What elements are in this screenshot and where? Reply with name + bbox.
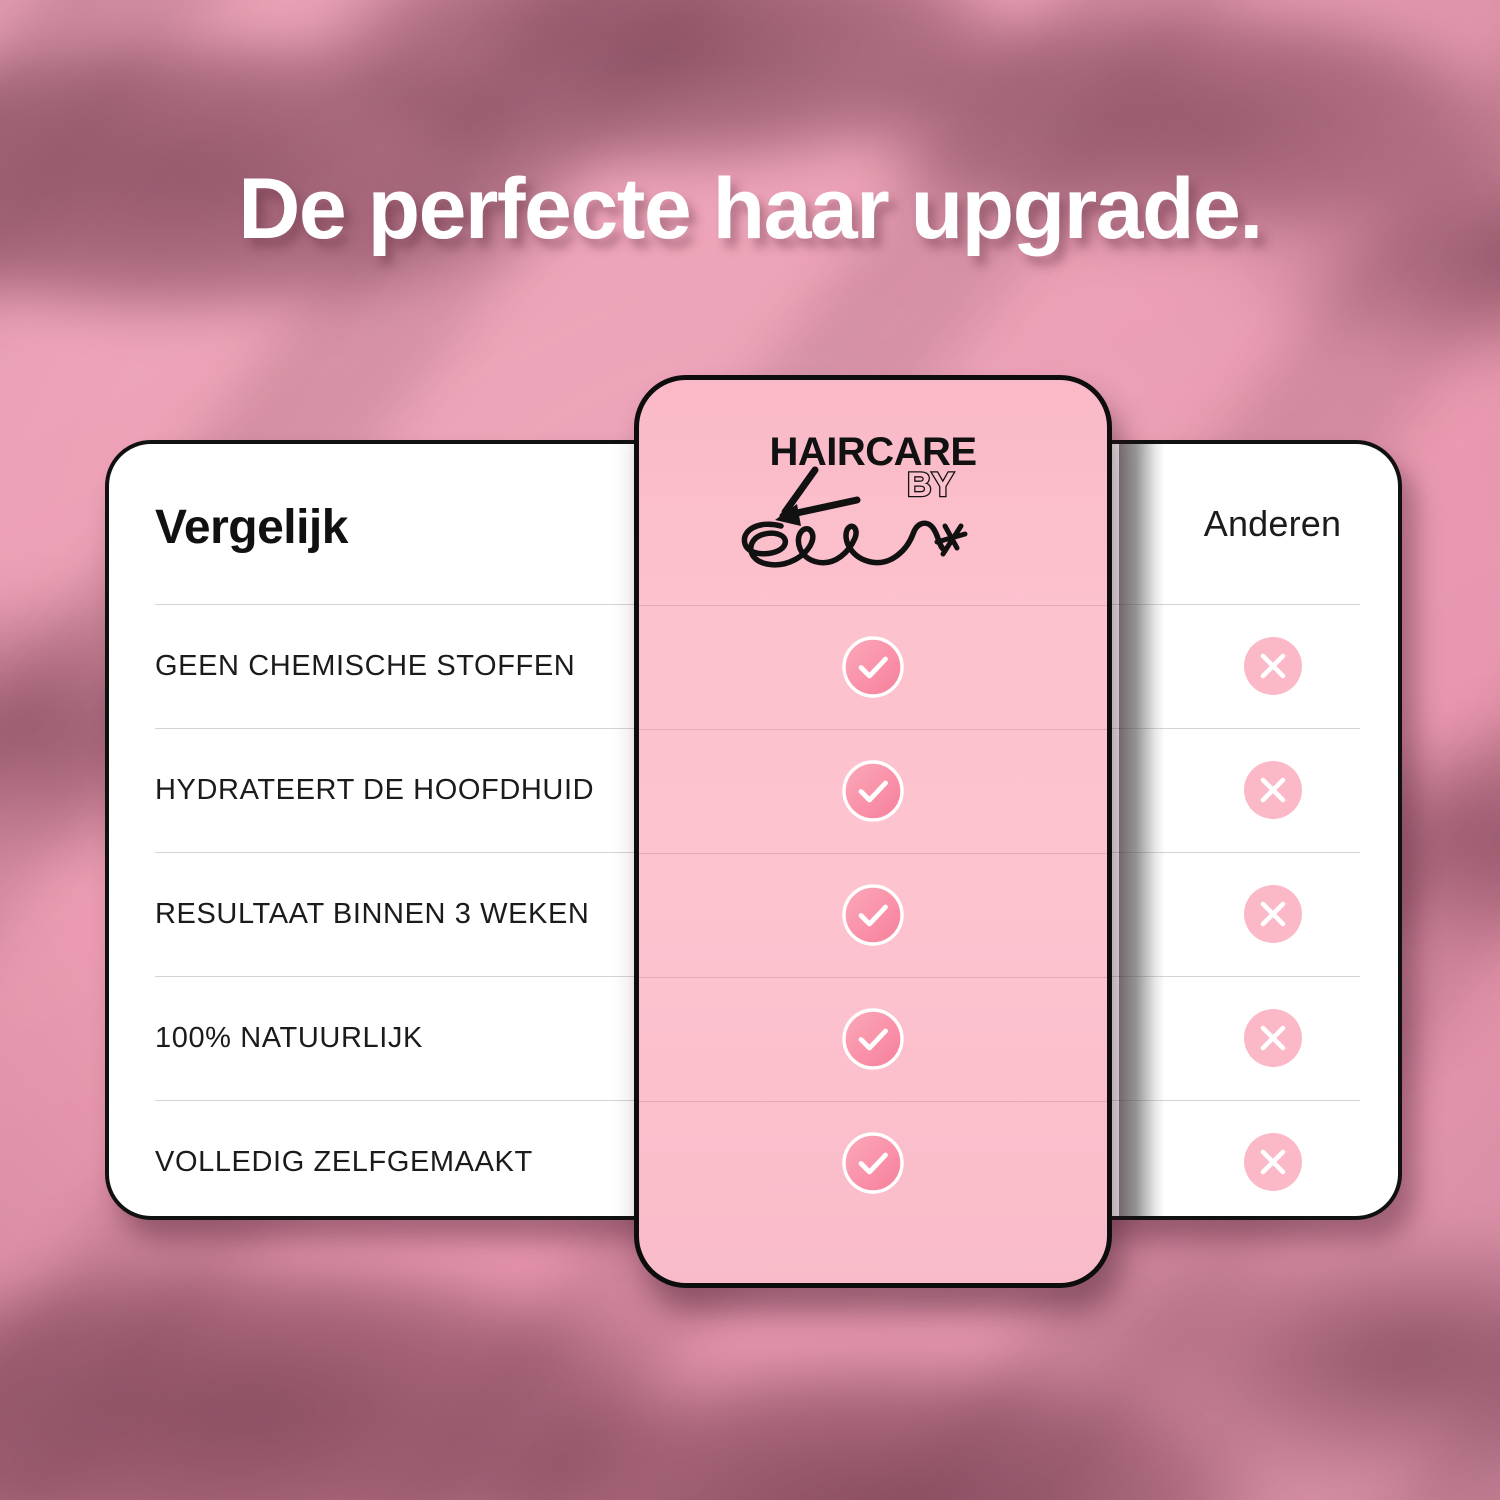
feature-label: RESULTAAT BINNEN 3 WEKEN [155,852,589,976]
check-circle-icon [842,760,904,822]
cross-circle-icon [1244,1009,1302,1067]
cross-circle-icon [1244,885,1302,943]
row-divider [639,1101,1107,1102]
others-cell [1139,1100,1402,1220]
cross-circle-icon [1244,761,1302,819]
poster-canvas: De perfecte haar upgrade. Vergelijk Ande… [0,0,1500,1500]
brand-cell [639,853,1107,977]
cross-circle-icon [1244,1133,1302,1191]
others-cell [1139,728,1402,852]
others-column-header: Anderen [1139,444,1402,604]
row-divider [639,605,1107,606]
row-divider [639,729,1107,730]
brand-cell [639,605,1107,729]
others-cell [1139,604,1402,728]
feature-label: VOLLEDIG ZELFGEMAAKT [155,1100,533,1220]
brand-column-card: HAIRCARE BY [634,375,1112,1288]
row-divider [639,853,1107,854]
brand-logo: HAIRCARE BY [639,430,1107,590]
others-cell [1139,852,1402,976]
check-circle-icon [842,884,904,946]
check-circle-icon [842,636,904,698]
compare-column-header: Vergelijk [155,500,348,555]
check-circle-icon [842,1008,904,1070]
brand-cell [639,729,1107,853]
check-circle-icon [842,1132,904,1194]
feature-label: 100% NATUURLIJK [155,976,423,1100]
brand-cell [639,1101,1107,1225]
brand-logo-signature-icon [689,464,1069,584]
others-cell [1139,976,1402,1100]
cross-circle-icon [1244,637,1302,695]
feature-label: HYDRATEERT DE HOOFDHUID [155,728,594,852]
feature-label: GEEN CHEMISCHE STOFFEN [155,604,575,728]
brand-cell [639,977,1107,1101]
page-title: De perfecte haar upgrade. [0,160,1500,259]
row-divider [639,977,1107,978]
